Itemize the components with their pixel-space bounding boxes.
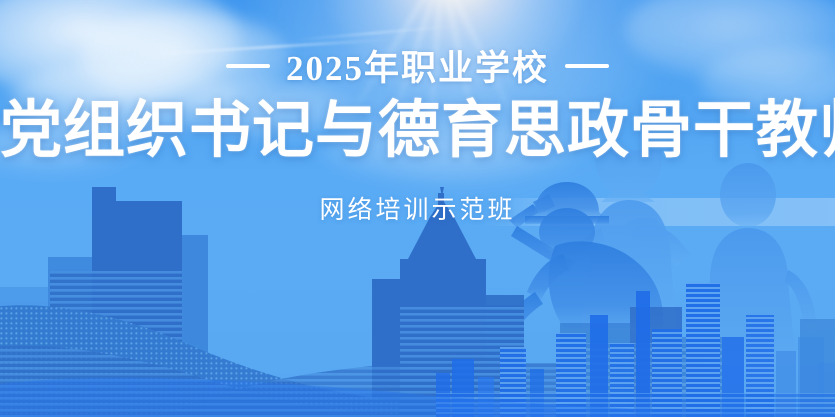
dash-right-icon xyxy=(565,64,609,68)
banner-text-block: 2025年职业学校 党组织书记与德育思政骨干教师 网络培训示范班 xyxy=(0,0,835,226)
eyebrow-label: 2025年职业学校 xyxy=(286,40,549,91)
banner-headline: 党组织书记与德育思政骨干教师 xyxy=(0,99,835,164)
skyline-textured-hill xyxy=(0,305,560,417)
skyline-foreground-sweep xyxy=(0,378,835,417)
dash-left-icon xyxy=(226,64,270,68)
skyline-right-skyscrapers xyxy=(436,283,835,417)
training-course-banner: 2025年职业学校 党组织书记与德育思政骨干教师 网络培训示范班 xyxy=(0,0,835,417)
skyline-far-left xyxy=(0,257,100,417)
banner-eyebrow: 2025年职业学校 xyxy=(0,40,835,91)
skyline-mid-blocks xyxy=(560,307,835,417)
banner-subtitle: 网络培训示范班 xyxy=(0,190,835,226)
